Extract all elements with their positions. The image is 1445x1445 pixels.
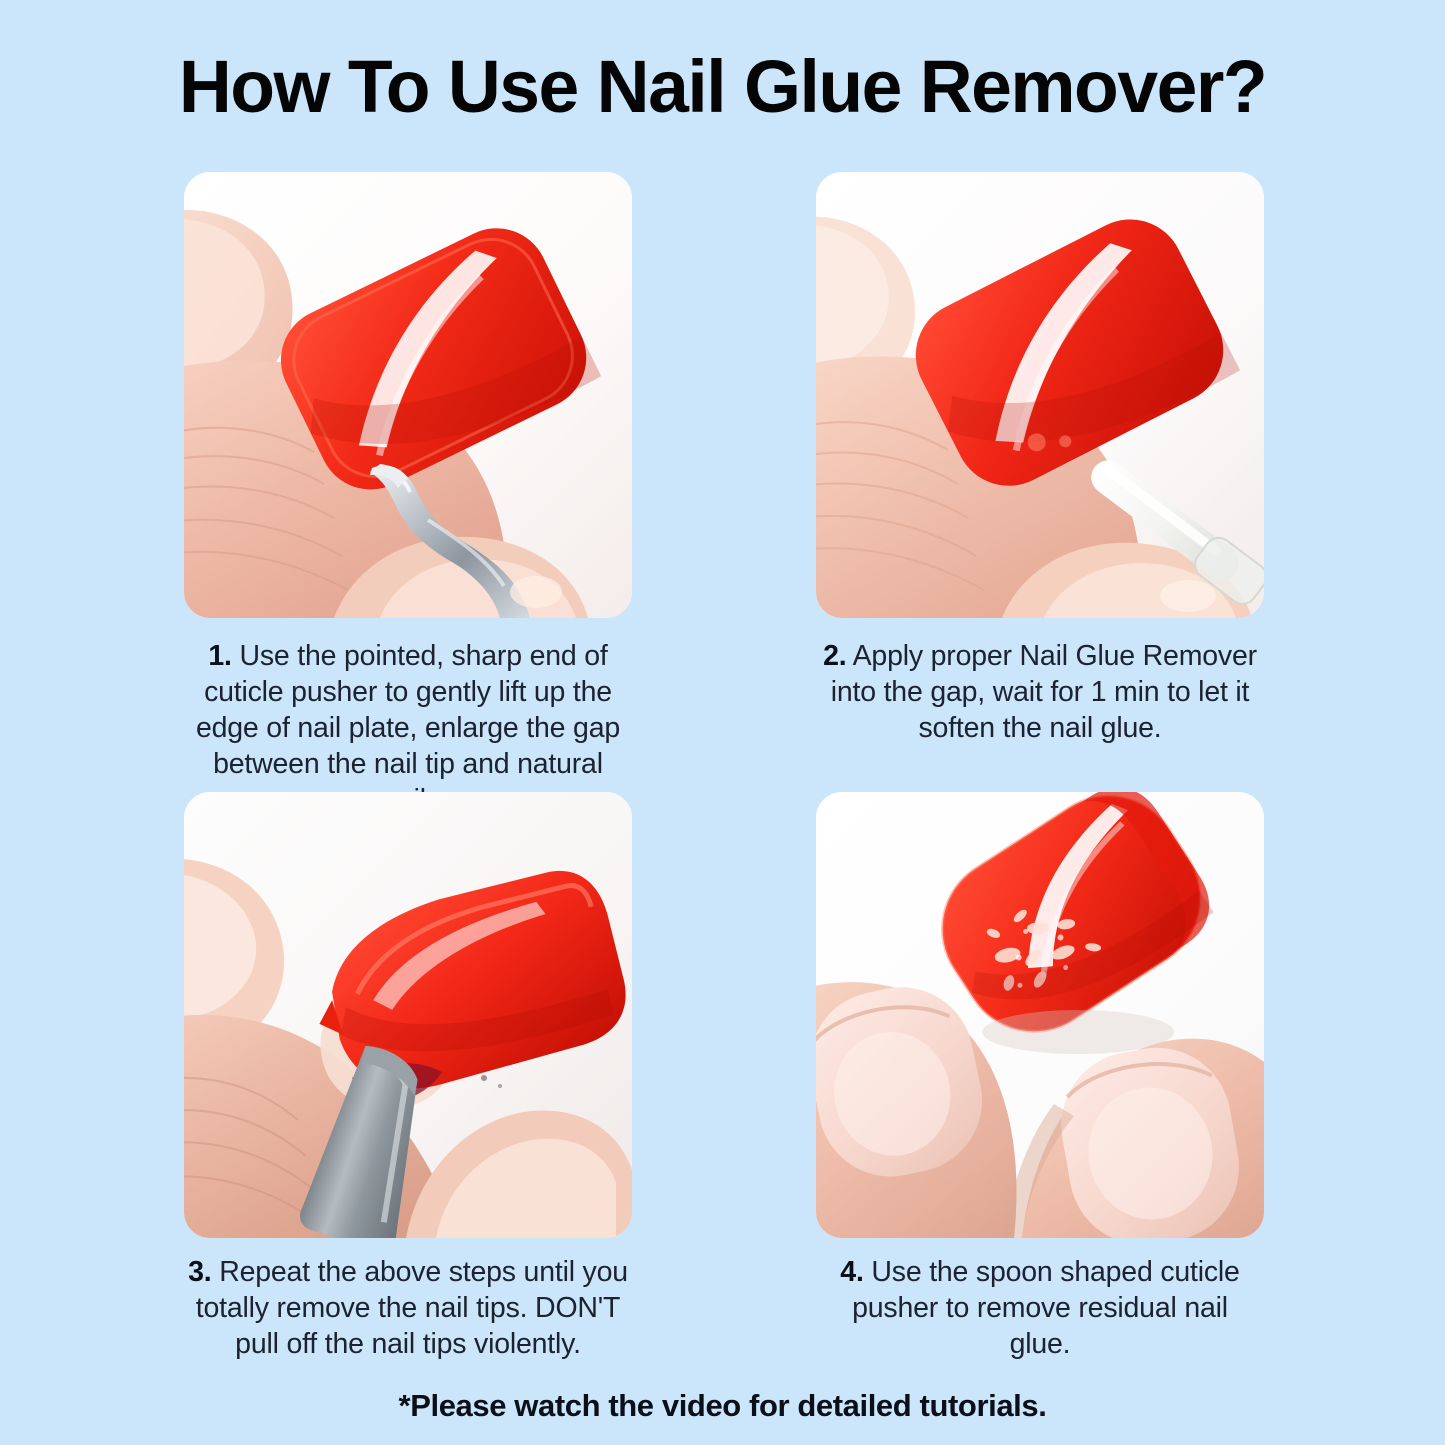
- step-card-2: 2. Apply proper Nail Glue Remover into t…: [816, 172, 1264, 818]
- step-card-4: 4. Use the spoon shaped cuticle pusher t…: [816, 792, 1264, 1362]
- page-title: How To Use Nail Glue Remover?: [7, 44, 1438, 130]
- prying-nail-tip-illustration: [184, 792, 632, 1238]
- step-1-text: Use the pointed, sharp end of cuticle pu…: [196, 640, 620, 816]
- step-2-caption: 2. Apply proper Nail Glue Remover into t…: [816, 638, 1264, 746]
- glue-remover-applicator-illustration: [816, 172, 1264, 618]
- step-1-photo: [184, 172, 632, 618]
- step-4-number: 4.: [840, 1256, 863, 1288]
- step-2-photo: [816, 172, 1264, 618]
- step-3-text: Repeat the above steps until you totally…: [196, 1256, 628, 1360]
- step-3-number: 3.: [188, 1256, 211, 1288]
- step-card-3: 3. Repeat the above steps until you tota…: [184, 792, 632, 1362]
- step-1-caption: 1. Use the pointed, sharp end of cuticle…: [184, 638, 632, 818]
- step-3-photo: [184, 792, 632, 1238]
- removed-nail-tip-with-residue-illustration: [816, 792, 1264, 1238]
- steps-grid: 1. Use the pointed, sharp end of cuticle…: [184, 172, 1262, 818]
- footer-note: *Please watch the video for detailed tut…: [0, 1386, 1445, 1426]
- steps-row-1: 1. Use the pointed, sharp end of cuticle…: [184, 172, 1262, 818]
- infographic-page: How To Use Nail Glue Remover?: [0, 0, 1445, 1445]
- step-4-caption: 4. Use the spoon shaped cuticle pusher t…: [816, 1254, 1264, 1362]
- step-card-1: 1. Use the pointed, sharp end of cuticle…: [184, 172, 632, 818]
- step-2-number: 2.: [823, 640, 846, 672]
- step-4-photo: [816, 792, 1264, 1238]
- steps-row-2: 3. Repeat the above steps until you tota…: [184, 792, 1264, 1362]
- step-2-text: Apply proper Nail Glue Remover into the …: [831, 640, 1257, 744]
- cuticle-pusher-lifting-nail-illustration: [184, 172, 632, 618]
- step-3-caption: 3. Repeat the above steps until you tota…: [184, 1254, 632, 1362]
- step-1-number: 1.: [208, 640, 231, 672]
- step-4-text: Use the spoon shaped cuticle pusher to r…: [852, 1256, 1240, 1360]
